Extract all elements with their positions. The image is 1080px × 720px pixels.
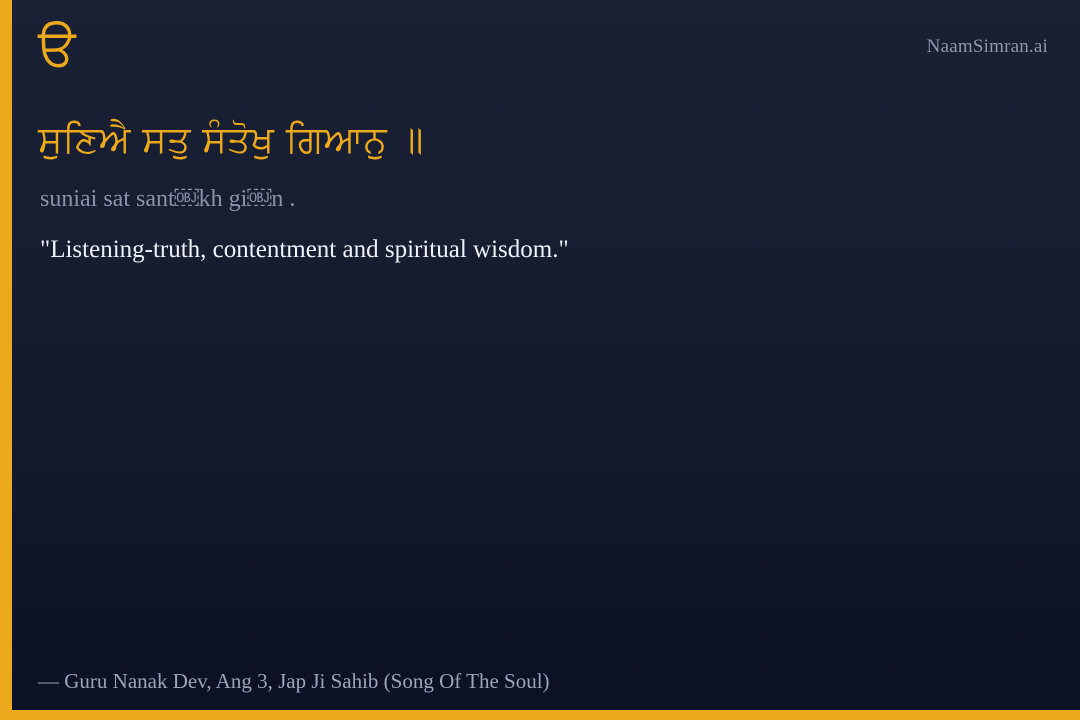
brand-wordmark: NaamSimran.ai <box>927 36 1048 58</box>
left-accent-bar <box>0 0 12 720</box>
scripture-quote-card: NaamSimran.ai ੳ ਸੁਣਿਐ ਸਤੁ ਸੰਤੋਖੁ ਗਿਆਨੁ ॥… <box>0 0 1080 720</box>
verse-transliteration: suniai sat sant￼kh gi￼n . <box>40 184 1040 214</box>
bottom-accent-bar <box>0 710 1080 720</box>
verse-translation: "Listening-truth, contentment and spirit… <box>40 234 1040 267</box>
verse-attribution: — Guru Nanak Dev, Ang 3, Jap Ji Sahib (S… <box>38 669 550 694</box>
gurmukhi-verse: ਸੁਣਿਐ ਸਤੁ ਸੰਤੋਖੁ ਗਿਆਨੁ ॥ <box>38 118 1040 162</box>
ik-onkar-icon: ੳ <box>38 22 76 74</box>
verse-block: ਸੁਣਿਐ ਸਤੁ ਸੰਤੋਖੁ ਗਿਆਨੁ ॥ suniai sat sant… <box>38 118 1040 266</box>
